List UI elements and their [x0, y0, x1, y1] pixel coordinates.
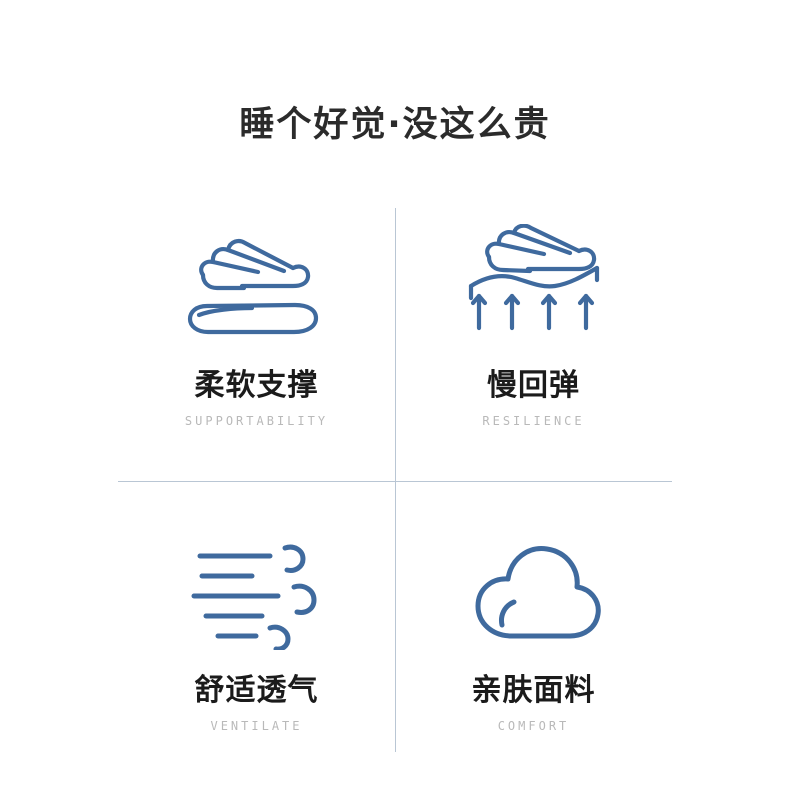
- product-feature-poster: 睡个好觉·没这么贵 柔软支撑 SUPPORTABILITY: [0, 0, 790, 785]
- feature-title-cn: 慢回弹: [487, 360, 580, 404]
- page-title: 睡个好觉·没这么贵: [0, 96, 790, 147]
- feature-title-en: SUPPORTABILITY: [185, 414, 328, 428]
- feature-grid: 柔软支撑 SUPPORTABILITY: [118, 200, 672, 760]
- hand-rebound-arrows-icon: [449, 214, 619, 354]
- feature-title-en: COMFORT: [498, 719, 570, 733]
- wind-flow-icon: [182, 525, 332, 665]
- feature-title-en: RESILIENCE: [482, 414, 584, 428]
- feature-title-cn: 柔软支撑: [195, 360, 319, 404]
- feature-cell-ventilate: 舒适透气 VENTILATE: [118, 481, 395, 761]
- feature-cell-supportability: 柔软支撑 SUPPORTABILITY: [118, 200, 395, 480]
- feature-cell-comfort: 亲肤面料 COMFORT: [395, 481, 672, 761]
- feature-cell-resilience: 慢回弹 RESILIENCE: [395, 200, 672, 480]
- cloud-icon: [464, 525, 604, 665]
- hand-pressing-pillow-icon: [172, 214, 342, 354]
- feature-title-cn: 亲肤面料: [472, 665, 596, 709]
- feature-title-cn: 舒适透气: [195, 665, 319, 709]
- feature-title-en: VENTILATE: [210, 719, 302, 733]
